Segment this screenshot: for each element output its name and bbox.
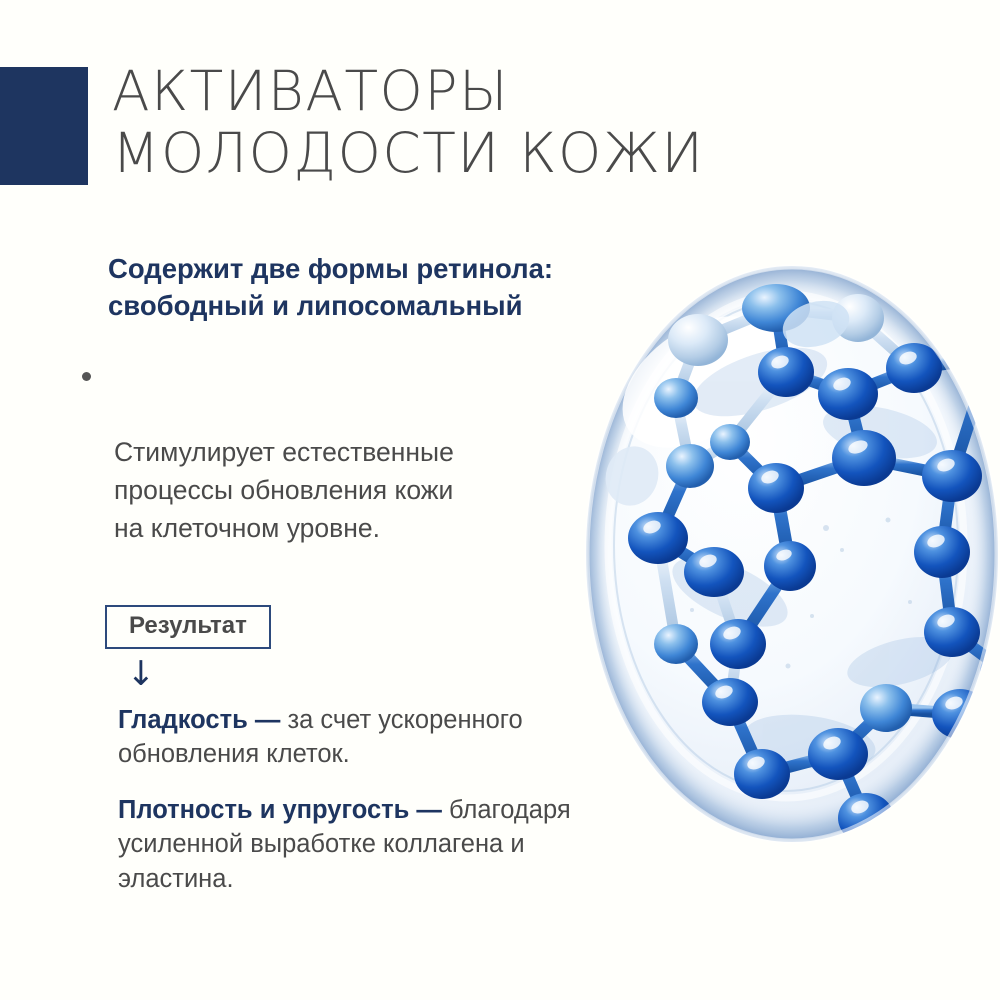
intro-heading: Содержит две формы ретинола: свободный и… — [108, 250, 628, 324]
bullet-dot-icon — [82, 372, 91, 381]
poster-canvas: АКТИВАТОРЫ МОЛОДОСТИ КОЖИ Содержит две ф… — [0, 0, 1000, 1000]
list-item: Плотность и упругость — благодаря усилен… — [118, 793, 618, 895]
result-badge: Результат — [105, 605, 271, 649]
arrow-down-icon: ↓ — [124, 652, 158, 696]
result-list: Гладкость — за счет ускоренного обновлен… — [118, 703, 618, 896]
result-term: Плотность и упругость — — [118, 796, 449, 824]
page-title: АКТИВАТОРЫ МОЛОДОСТИ КОЖИ — [112, 60, 912, 184]
accent-block — [0, 67, 88, 185]
intro-bullet-list: Стимулирует естественные процессы обновл… — [76, 359, 576, 547]
list-item: Стимулирует естественные процессы обновл… — [76, 359, 576, 547]
list-item: Гладкость — за счет ускоренного обновлен… — [118, 703, 618, 771]
result-term: Гладкость — — [118, 706, 287, 734]
list-item-text: Стимулирует естественные процессы обновл… — [114, 437, 454, 542]
molecule-bubble-artwork — [580, 262, 1000, 862]
molecule-bubble-illustration — [580, 262, 1000, 862]
